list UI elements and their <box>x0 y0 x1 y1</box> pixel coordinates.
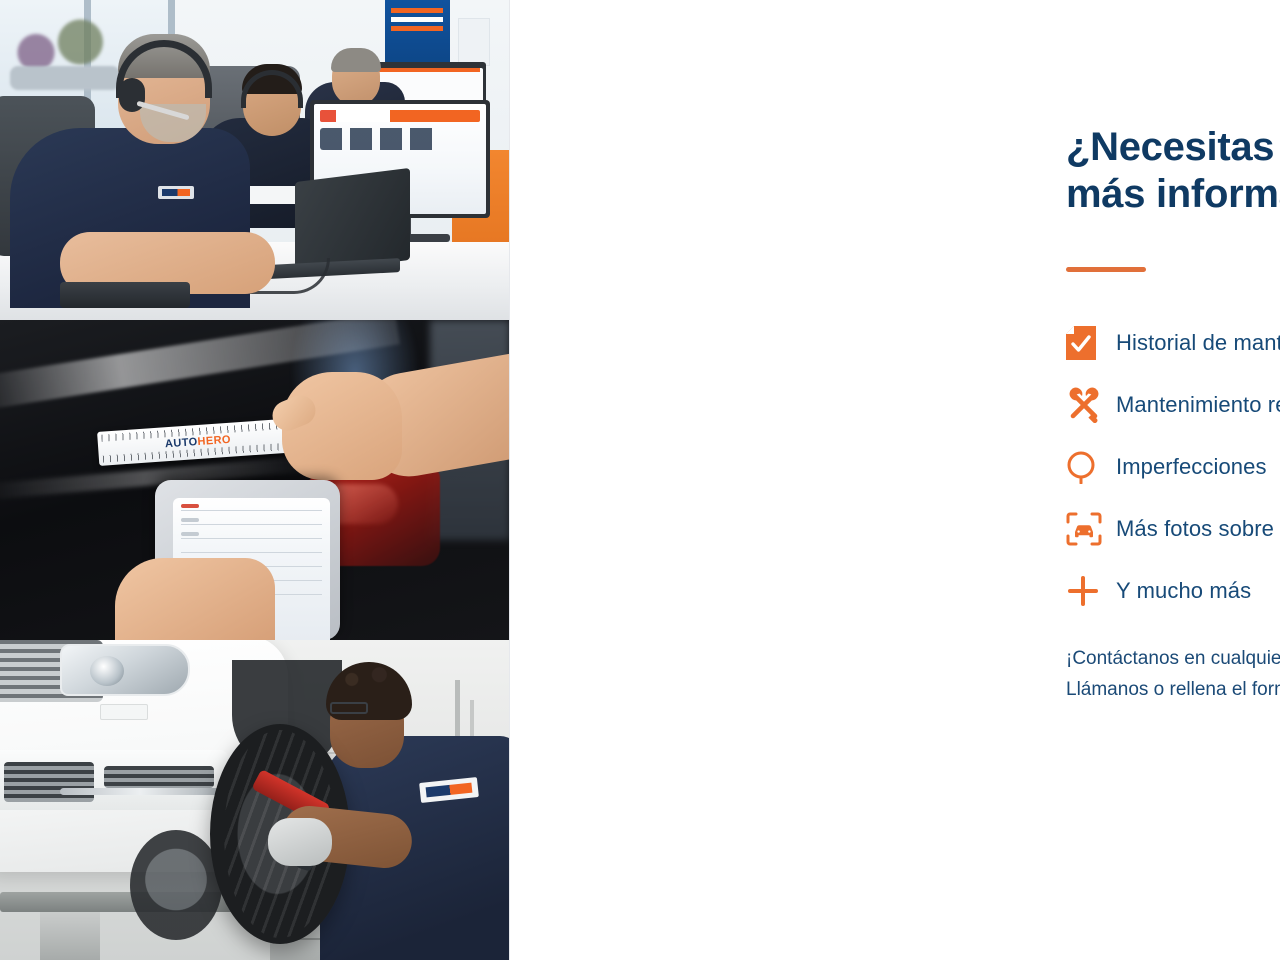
tools-wrench-screwdriver-icon <box>1066 387 1116 423</box>
brake-hub <box>130 830 222 940</box>
page-title: ¿Necesitas más información? <box>1066 124 1280 218</box>
feature-label: Imperfecciones <box>1116 454 1267 480</box>
paragraph-line-1: ¡Contáctanos en cualquier momento para m… <box>1066 644 1280 675</box>
license-plate-area <box>100 704 148 720</box>
bumper-vent-center <box>104 766 214 788</box>
outdoor-car <box>10 66 120 90</box>
plus-icon <box>1066 574 1116 608</box>
bumper-vent-left <box>4 762 94 802</box>
headline-line-2: más información? <box>1066 171 1280 218</box>
feature-label: Y mucho más <box>1116 578 1251 604</box>
bumper-chrome-trim <box>60 788 220 795</box>
feature-label: Más fotos sobre el coche <box>1116 516 1280 542</box>
wall-poster-secondary <box>458 18 490 66</box>
document-check-icon <box>1066 326 1116 360</box>
inspector-hand-holding-tablet <box>115 558 275 640</box>
car-inspection-ruler-photo: AUTOHERO <box>0 320 510 640</box>
mechanic-glove <box>268 818 332 866</box>
desk-tablet <box>60 282 190 308</box>
headline-line-1: ¿Necesitas <box>1066 124 1280 171</box>
feature-item-maintenance-done: Mantenimiento realizado <box>1066 374 1280 436</box>
paragraph-line-2: Llámanos o rellena el formulario de cont… <box>1066 675 1280 706</box>
contact-paragraph: ¡Contáctanos en cualquier momento para m… <box>1066 644 1280 706</box>
content-panel: ¿Necesitas más información? Historial de… <box>510 0 1280 960</box>
wall-banner <box>385 0 450 62</box>
call-center-agents-photo <box>0 0 510 320</box>
title-divider <box>1066 267 1146 272</box>
feature-item-more-photos: Más fotos sobre el coche <box>1066 498 1280 560</box>
mechanic-glasses <box>330 702 368 714</box>
feature-label: Historial de mantenimientos <box>1116 330 1280 356</box>
mechanic-wheel-photo <box>0 640 510 960</box>
polo-logo-badge <box>158 186 194 199</box>
feature-label: Mantenimiento realizado <box>1116 392 1280 418</box>
agent-three-hair <box>331 48 381 72</box>
magnifier-icon <box>1066 450 1116 484</box>
feature-list: Historial de mantenimientos Mantenimient… <box>1066 312 1280 622</box>
car-scan-icon <box>1066 512 1116 546</box>
feature-item-maintenance-history: Historial de mantenimientos <box>1066 312 1280 374</box>
promo-banner: AUTOHERO <box>0 0 1280 960</box>
feature-item-more: Y mucho más <box>1066 560 1280 622</box>
photo-column: AUTOHERO <box>0 0 510 960</box>
car-lift-column <box>40 912 100 960</box>
feature-item-imperfections: Imperfecciones <box>1066 436 1280 498</box>
car-headlight <box>60 644 190 696</box>
